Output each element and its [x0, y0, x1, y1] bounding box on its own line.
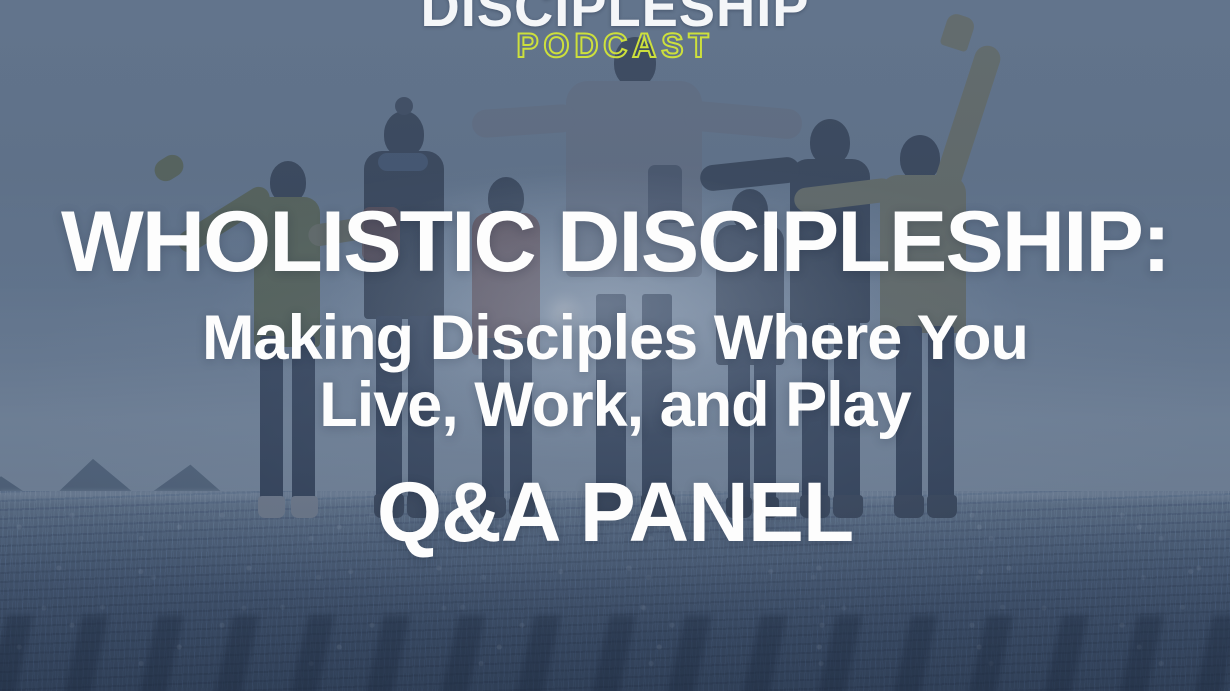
- text-layer: DISCIPLESHIP PODCAST WHOLISTIC DISCIPLES…: [0, 0, 1230, 691]
- episode-subheadline: Making Disciples Where You Live, Work, a…: [0, 305, 1230, 439]
- subheadline-line-1: Making Disciples Where You: [0, 305, 1230, 372]
- brand-subtitle-podcast: PODCAST: [12, 27, 1217, 66]
- episode-headline: WHOLISTIC DISCIPLESHIP:: [0, 199, 1230, 285]
- subheadline-line-2: Live, Work, and Play: [0, 372, 1230, 439]
- podcast-title-card: DISCIPLESHIP PODCAST WHOLISTIC DISCIPLES…: [0, 0, 1230, 691]
- panel-title: Q&A PANEL: [0, 470, 1230, 554]
